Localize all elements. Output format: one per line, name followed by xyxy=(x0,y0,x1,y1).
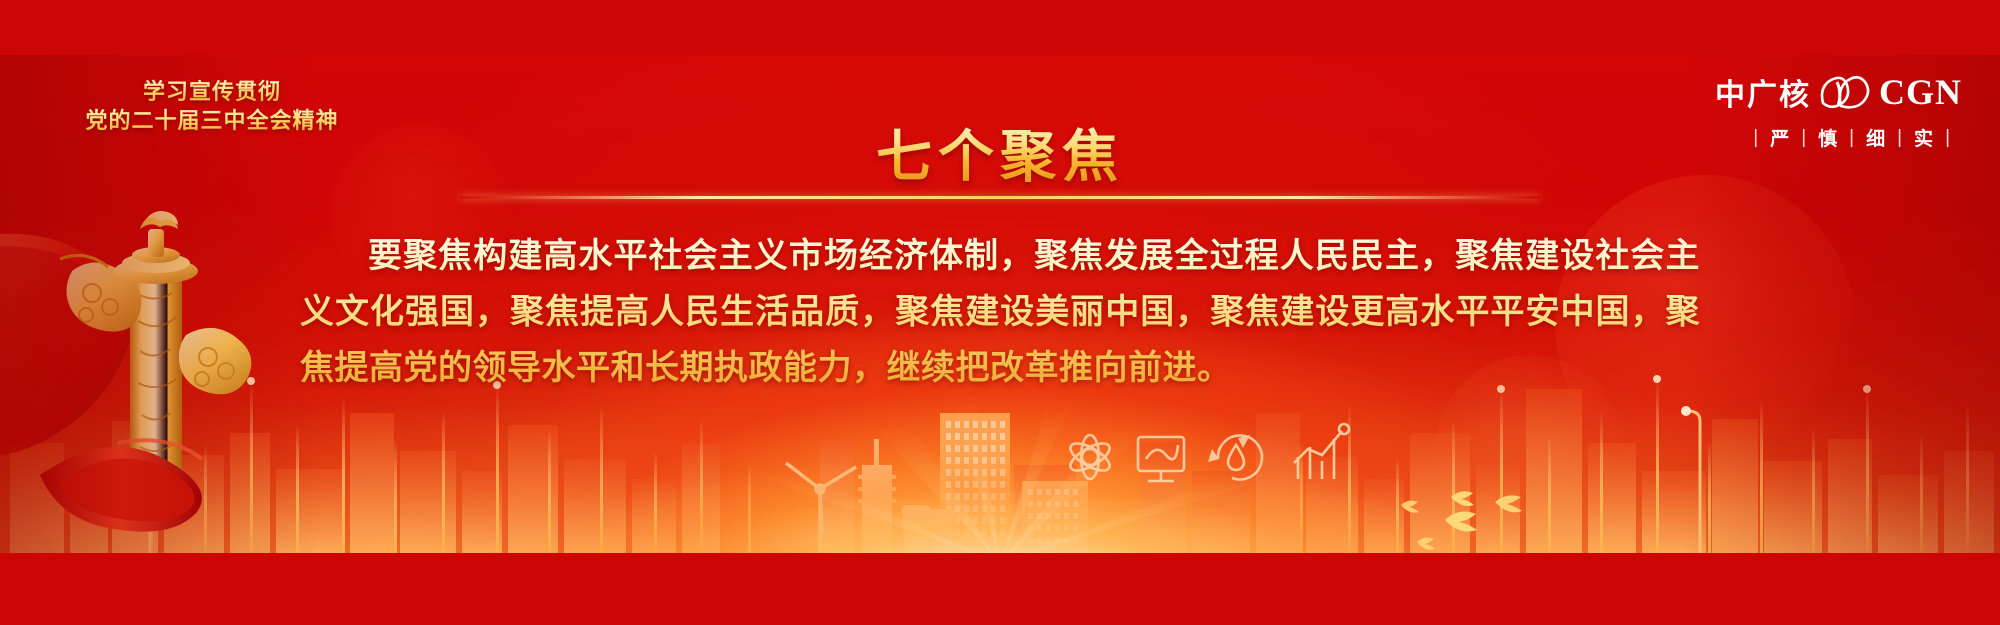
cgn-logo: 中广核 CGN | 严 | 慎 | 细 | 实 | xyxy=(1715,70,1962,151)
page-title-text: 七个聚焦 xyxy=(876,112,1124,193)
slogan-line-1: 学习宣传贯彻 xyxy=(62,78,362,107)
motto-char-0: 严 xyxy=(1770,124,1790,151)
page-title: 七个聚焦 xyxy=(0,112,2000,193)
monitor-icon xyxy=(1138,437,1184,481)
cgn-swoosh-icon xyxy=(1817,73,1873,111)
motto-char-2: 细 xyxy=(1866,124,1886,151)
motto-sep-4: | xyxy=(1934,127,1962,149)
motto-sep-3: | xyxy=(1886,127,1914,149)
bar-chart-growth-icon xyxy=(1294,424,1349,479)
motto-char-3: 实 xyxy=(1914,124,1934,151)
energy-icon-group xyxy=(1060,401,1370,491)
logo-row: 中广核 CGN xyxy=(1715,70,1962,114)
gold-divider xyxy=(460,196,1540,199)
water-recycle-icon xyxy=(1208,435,1262,479)
bottom-bleed-bar xyxy=(0,553,2000,625)
logo-motto: | 严 | 慎 | 细 | 实 | xyxy=(1715,124,1962,151)
flying-doves-icon xyxy=(1395,450,1685,553)
body-text-block: 要聚焦构建高水平社会主义市场经济体制，聚焦发展全过程人民民主，聚焦建设社会主义文… xyxy=(300,228,1700,396)
top-bleed-bar xyxy=(0,0,2000,55)
motto-sep-2: | xyxy=(1838,127,1866,149)
body-paragraph: 要聚焦构建高水平社会主义市场经济体制，聚焦发展全过程人民民主，聚焦建设社会主义文… xyxy=(300,228,1700,396)
logo-chinese-name: 中广核 xyxy=(1715,70,1811,114)
huabiao-column-icon xyxy=(0,175,320,553)
motto-sep-0: | xyxy=(1742,127,1770,149)
cooling-towers-icon xyxy=(902,505,955,553)
motto-char-1: 慎 xyxy=(1818,124,1838,151)
atom-icon xyxy=(1066,435,1113,479)
motto-sep-1: | xyxy=(1790,127,1818,149)
logo-english-name: CGN xyxy=(1879,71,1962,113)
banner-root: 学习宣传贯彻 党的二十届三中全会精神 七个聚焦 要聚焦构建高水平社会主义市场经济… xyxy=(0,0,2000,625)
